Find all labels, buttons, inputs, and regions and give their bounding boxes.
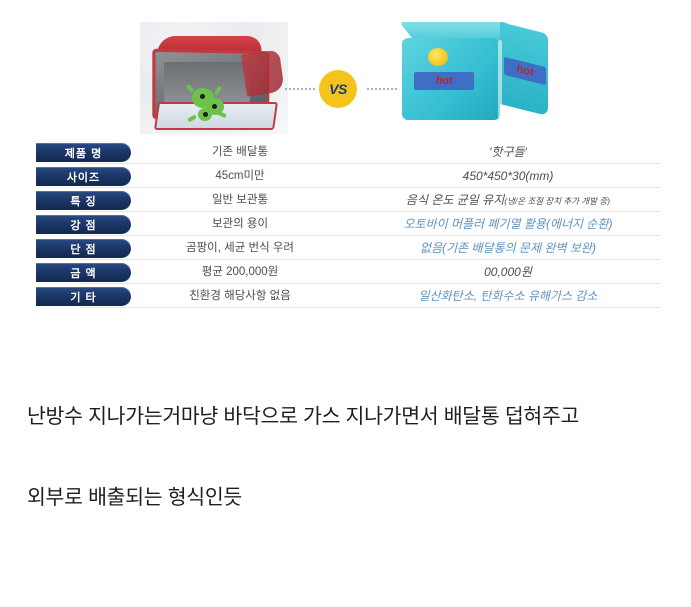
- sun-logo-icon: [428, 48, 448, 66]
- row-label-pill: 강 점: [36, 215, 131, 234]
- new-product-value-note: (냉/온 조절 장치 추가 개발 중): [504, 196, 610, 206]
- bag-strap-shape: [241, 50, 284, 97]
- old-product-value: 친환경 해당사항 없음: [140, 287, 340, 305]
- row-label-pill: 금 액: [36, 263, 131, 282]
- new-product-value-main: 음식 온도 균일 유지: [406, 193, 504, 207]
- table-row: 사이즈45cm미만450*450*30(mm): [0, 164, 691, 188]
- row-label-pill: 단 점: [36, 239, 131, 258]
- row-label-pill: 기 타: [36, 287, 131, 306]
- table-row: 단 점곰팡이, 세균 번식 우려없음(기존 배달통의 문제 완벽 보완): [0, 236, 691, 260]
- dotted-line-right: [367, 88, 397, 90]
- hot-box-image: hot hot: [400, 18, 560, 136]
- table-row: 기 타친환경 해당사항 없음일산화탄소, 탄화수소 유해가스 감소: [0, 284, 691, 308]
- old-delivery-bag-image: [140, 22, 288, 134]
- table-row: 특 징일반 보관통음식 온도 균일 유지(냉/온 조절 장치 추가 개발 중): [0, 188, 691, 212]
- new-product-value: 00,000원: [348, 263, 668, 281]
- hotbox-seam: [498, 40, 502, 118]
- post-paragraph-1: 난방수 지나가는거마냥 바닥으로 가스 지나가면서 배달통 덥혀주고: [27, 400, 664, 433]
- new-product-value: 없음(기존 배달통의 문제 완벽 보완): [348, 239, 668, 257]
- post-paragraph-2: 외부로 배출되는 형식인듯: [27, 481, 664, 514]
- row-label-pill: 제품 명: [36, 143, 131, 162]
- table-row: 금 액평균 200,000원00,000원: [0, 260, 691, 284]
- germ-dot-icon: [203, 112, 208, 117]
- old-product-value: 평균 200,000원: [140, 263, 340, 281]
- old-product-value: 일반 보관통: [140, 191, 340, 209]
- table-row: 제품 명기존 배달통'핫구들': [0, 140, 691, 164]
- comparison-infographic: VS hot hot 제품 명기존 배달통'핫구들'사이즈45cm미만450*4…: [0, 0, 691, 345]
- post-body: 난방수 지나가는거마냥 바닥으로 가스 지나가면서 배달통 덥혀주고 외부로 배…: [0, 400, 691, 514]
- germ-dot-icon: [200, 94, 205, 99]
- new-product-value: 450*450*30(mm): [348, 167, 668, 185]
- new-product-value: 오토바이 머플러 폐기열 활용(에너지 순환): [348, 215, 668, 233]
- table-row: 강 점보관의 용이오토바이 머플러 폐기열 활용(에너지 순환): [0, 212, 691, 236]
- row-label-pill: 사이즈: [36, 167, 131, 186]
- hero-comparison: VS hot hot: [0, 8, 691, 136]
- old-product-value: 곰팡이, 세균 번식 우려: [140, 239, 340, 257]
- vs-badge: VS: [319, 70, 357, 108]
- new-product-value: '핫구들': [348, 143, 668, 161]
- row-label-pill: 특 징: [36, 191, 131, 210]
- dotted-line-left: [285, 88, 315, 90]
- new-product-value: 일산화탄소, 탄화수소 유해가스 감소: [348, 287, 668, 305]
- new-product-value: 음식 온도 균일 유지(냉/온 조절 장치 추가 개발 중): [348, 191, 668, 210]
- versus-separator: VS: [285, 70, 397, 108]
- spec-comparison-table: 제품 명기존 배달통'핫구들'사이즈45cm미만450*450*30(mm)특 …: [0, 140, 691, 308]
- row-divider: [80, 307, 661, 308]
- old-product-value: 기존 배달통: [140, 143, 340, 161]
- germ-dot-icon: [212, 104, 217, 109]
- hotbox-front-label: hot: [414, 72, 474, 90]
- old-product-value: 보관의 용이: [140, 215, 340, 233]
- old-product-value: 45cm미만: [140, 167, 340, 185]
